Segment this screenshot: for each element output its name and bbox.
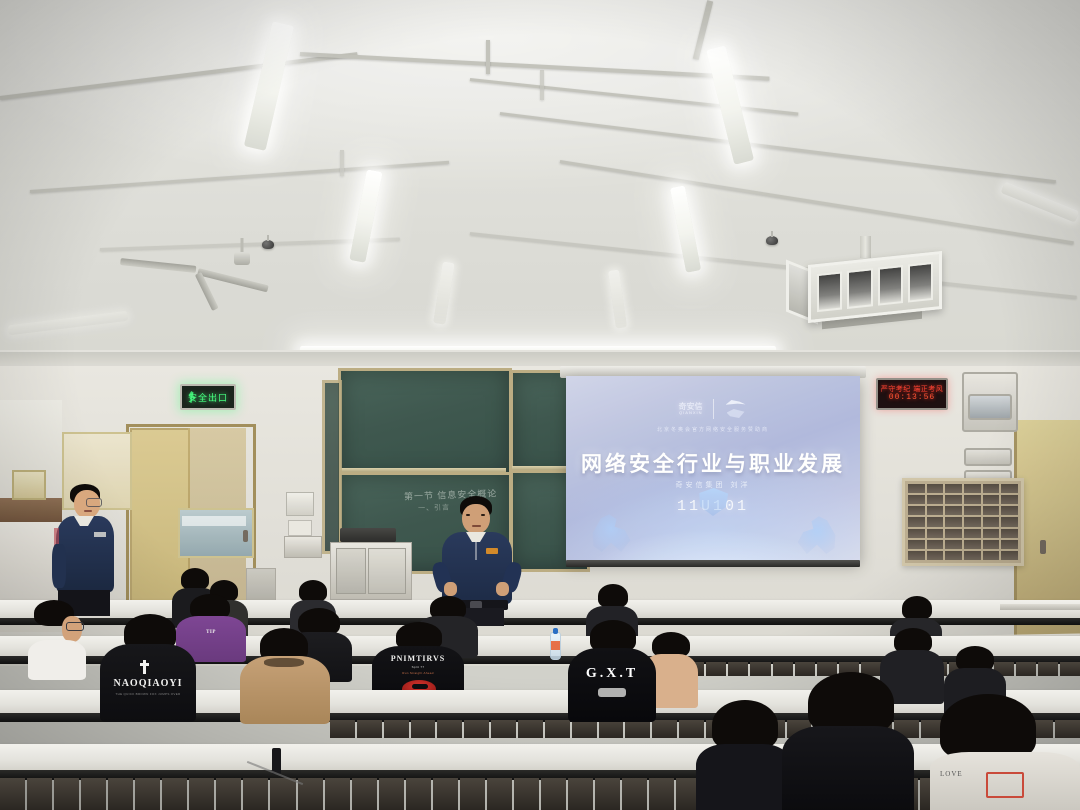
cubby-cell bbox=[1001, 551, 1018, 560]
wall-notice-paper bbox=[286, 492, 314, 516]
cubby-cell bbox=[927, 529, 944, 538]
cubby-cell bbox=[927, 484, 944, 493]
cross-icon bbox=[140, 660, 149, 674]
door-handle-right[interactable] bbox=[1040, 540, 1046, 554]
shirt-text-love: LOVE bbox=[940, 770, 972, 780]
slide-title: 网络安全行业与职业发展 bbox=[566, 448, 860, 478]
cubby-cell bbox=[945, 540, 962, 549]
torso bbox=[696, 744, 792, 810]
cubby-cell bbox=[964, 529, 981, 538]
cubby-cell bbox=[908, 484, 925, 493]
hand-left bbox=[444, 582, 457, 596]
desk-cabinet-door bbox=[336, 548, 366, 594]
cubby-cell bbox=[927, 540, 944, 549]
cubby-cell bbox=[1001, 495, 1018, 504]
cubby-cell bbox=[1001, 529, 1018, 538]
wall-plaque-left bbox=[12, 470, 46, 500]
shirt-graphic-box bbox=[986, 772, 1024, 798]
hair bbox=[940, 694, 1036, 760]
shirt-text-sub: Sprit 77 bbox=[372, 665, 464, 669]
bag-hook bbox=[272, 748, 281, 774]
ceiling-conduit-vertical bbox=[486, 40, 490, 74]
eye bbox=[481, 514, 485, 516]
cubby-cell bbox=[945, 551, 962, 560]
blackboard-panel-upper-left bbox=[338, 368, 512, 478]
cubby-cell bbox=[945, 484, 962, 493]
desk-cabinet-door bbox=[368, 548, 406, 594]
cubby-cell bbox=[1001, 484, 1018, 493]
badge-lanyard bbox=[486, 548, 498, 554]
cubby-cell bbox=[1001, 540, 1018, 549]
cubby-cell bbox=[908, 517, 925, 526]
eyeglasses bbox=[66, 622, 84, 631]
audience-member-tan-hoodie bbox=[240, 628, 330, 720]
audience-member-foreground-left bbox=[782, 672, 914, 810]
mouth bbox=[84, 510, 92, 512]
cubby-cell bbox=[927, 551, 944, 560]
water-bottle bbox=[550, 632, 561, 660]
led-notice-board: 严守考纪 端正考风 00:13:56 bbox=[876, 378, 948, 410]
led-line-2: 00:13:56 bbox=[889, 393, 935, 403]
cubby-cell bbox=[983, 540, 1000, 549]
audience-member-naoqiaoyi: NAOQIAOYI THE QUICK BROWN FOX JUMPS OVER bbox=[100, 614, 196, 718]
cubby-cell bbox=[964, 517, 981, 526]
cage-slot bbox=[908, 262, 933, 303]
led-line-1: 严守考纪 端正考风 bbox=[881, 386, 943, 393]
security-camera-icon bbox=[766, 236, 778, 245]
ceiling-projector bbox=[808, 252, 938, 330]
eyeglasses bbox=[86, 498, 102, 507]
lecture-hall-photo: 安全出口 严守考纪 端正考风 00:13:56 第一节 信息安全概论 一、引言 … bbox=[0, 0, 1080, 810]
cubby-cell bbox=[964, 551, 981, 560]
cubby-cell bbox=[945, 529, 962, 538]
cubby-cell bbox=[983, 529, 1000, 538]
shirt-logo-graphic bbox=[598, 688, 626, 697]
shirt-text-sub2: Run Straight Ahead bbox=[372, 671, 464, 675]
hair bbox=[598, 584, 628, 608]
torso-black-tank bbox=[568, 648, 656, 722]
ceiling-fan bbox=[182, 238, 302, 286]
blackboard-panel-far-left bbox=[322, 380, 342, 554]
torso-white-shirt bbox=[28, 640, 86, 680]
cubby-cell bbox=[927, 495, 944, 504]
face bbox=[462, 504, 490, 534]
cubby-cell bbox=[945, 495, 962, 504]
brand-name-en: QIANXIN bbox=[679, 411, 703, 416]
olympics-emblem-icon bbox=[724, 398, 748, 420]
audience-member-foreground-right: LOVE bbox=[930, 694, 1080, 810]
hair bbox=[808, 672, 894, 734]
cubby-cell bbox=[983, 495, 1000, 504]
cubby-cell bbox=[945, 517, 962, 526]
shirt-logo-detail bbox=[412, 684, 428, 689]
hand-right bbox=[496, 582, 509, 596]
polo-placket bbox=[475, 542, 477, 560]
cubby-cell bbox=[927, 517, 944, 526]
audience-member-gxt: G.X.T bbox=[568, 620, 656, 718]
cubby-cell bbox=[945, 506, 962, 515]
audience-member-foreground-center bbox=[696, 700, 792, 810]
cubby-cell bbox=[908, 540, 925, 549]
lectern-top bbox=[284, 536, 322, 558]
cubby-cell bbox=[983, 484, 1000, 493]
cubby-cell bbox=[908, 495, 925, 504]
wall-speaker bbox=[968, 394, 1012, 420]
door-handle-left[interactable] bbox=[243, 530, 248, 542]
fan-hub bbox=[234, 252, 250, 265]
cubby-cell bbox=[1001, 517, 1018, 526]
cubby-cell bbox=[983, 506, 1000, 515]
arm-left bbox=[52, 544, 66, 588]
cubby-cell bbox=[964, 540, 981, 549]
shirt-text-gxt: G.X.T bbox=[568, 666, 656, 682]
hair bbox=[902, 596, 932, 620]
audience-member-left-glasses bbox=[28, 600, 86, 670]
bench-rail bbox=[1000, 604, 1080, 610]
slide-logo-row: 奇安信 QIANXIN bbox=[566, 398, 860, 420]
ceiling-conduit-vertical bbox=[540, 70, 544, 100]
cubby-cell bbox=[908, 529, 925, 538]
cubby-cell bbox=[983, 551, 1000, 560]
slide-sponsor-line: 北京冬奥会官方网络安全服务赞助商 bbox=[566, 426, 860, 433]
cubby-cell bbox=[964, 506, 981, 515]
hair bbox=[299, 580, 327, 602]
hoodie-collar bbox=[264, 658, 304, 667]
cubby-cell bbox=[927, 506, 944, 515]
bench-slats-4 bbox=[0, 778, 1080, 810]
cage-slot bbox=[878, 265, 903, 306]
bottle-label bbox=[551, 641, 560, 650]
mouth bbox=[472, 525, 481, 527]
cubby-cell bbox=[983, 517, 1000, 526]
eye bbox=[466, 514, 470, 516]
shirt-text-main: PNIMTIRVS bbox=[372, 654, 464, 663]
emergency-exit-sign: 安全出口 bbox=[180, 384, 236, 410]
wall-mounted-box bbox=[964, 448, 1012, 466]
cage-slot bbox=[817, 271, 842, 312]
projector-mount bbox=[860, 236, 871, 258]
presenter-second bbox=[52, 484, 124, 616]
shirt-text-main: NAOQIAOYI bbox=[100, 678, 196, 689]
chest-logo bbox=[94, 532, 106, 537]
projection-screen: 奇安信 QIANXIN 北京冬奥会官方网络安全服务赞助商 网络安全行业与职业发展… bbox=[566, 376, 860, 562]
monitor-on-desk bbox=[340, 528, 396, 542]
logo-divider bbox=[713, 399, 714, 419]
presentation-slide: 奇安信 QIANXIN 北京冬奥会官方网络安全服务赞助商 网络安全行业与职业发展… bbox=[566, 376, 860, 562]
hair bbox=[712, 700, 778, 750]
projection-screen-weight-bar bbox=[566, 560, 860, 567]
torso bbox=[782, 726, 914, 810]
wall-notice-paper bbox=[288, 520, 312, 536]
cage-slot bbox=[847, 268, 872, 309]
cubby-cell bbox=[908, 506, 925, 515]
mail-cubby-shelf bbox=[902, 478, 1024, 566]
door-window-glare bbox=[182, 516, 246, 526]
brand-logo-text: 奇安信 QIANXIN bbox=[679, 402, 703, 416]
cubby-cell bbox=[1001, 506, 1018, 515]
cubby-cell bbox=[964, 484, 981, 493]
ceiling-conduit-vertical bbox=[340, 150, 344, 176]
cubby-cell bbox=[908, 551, 925, 560]
cubby-cell bbox=[964, 495, 981, 504]
shirt-text-sub: THE QUICK BROWN FOX JUMPS OVER bbox=[100, 692, 196, 696]
security-camera-icon bbox=[262, 240, 274, 249]
